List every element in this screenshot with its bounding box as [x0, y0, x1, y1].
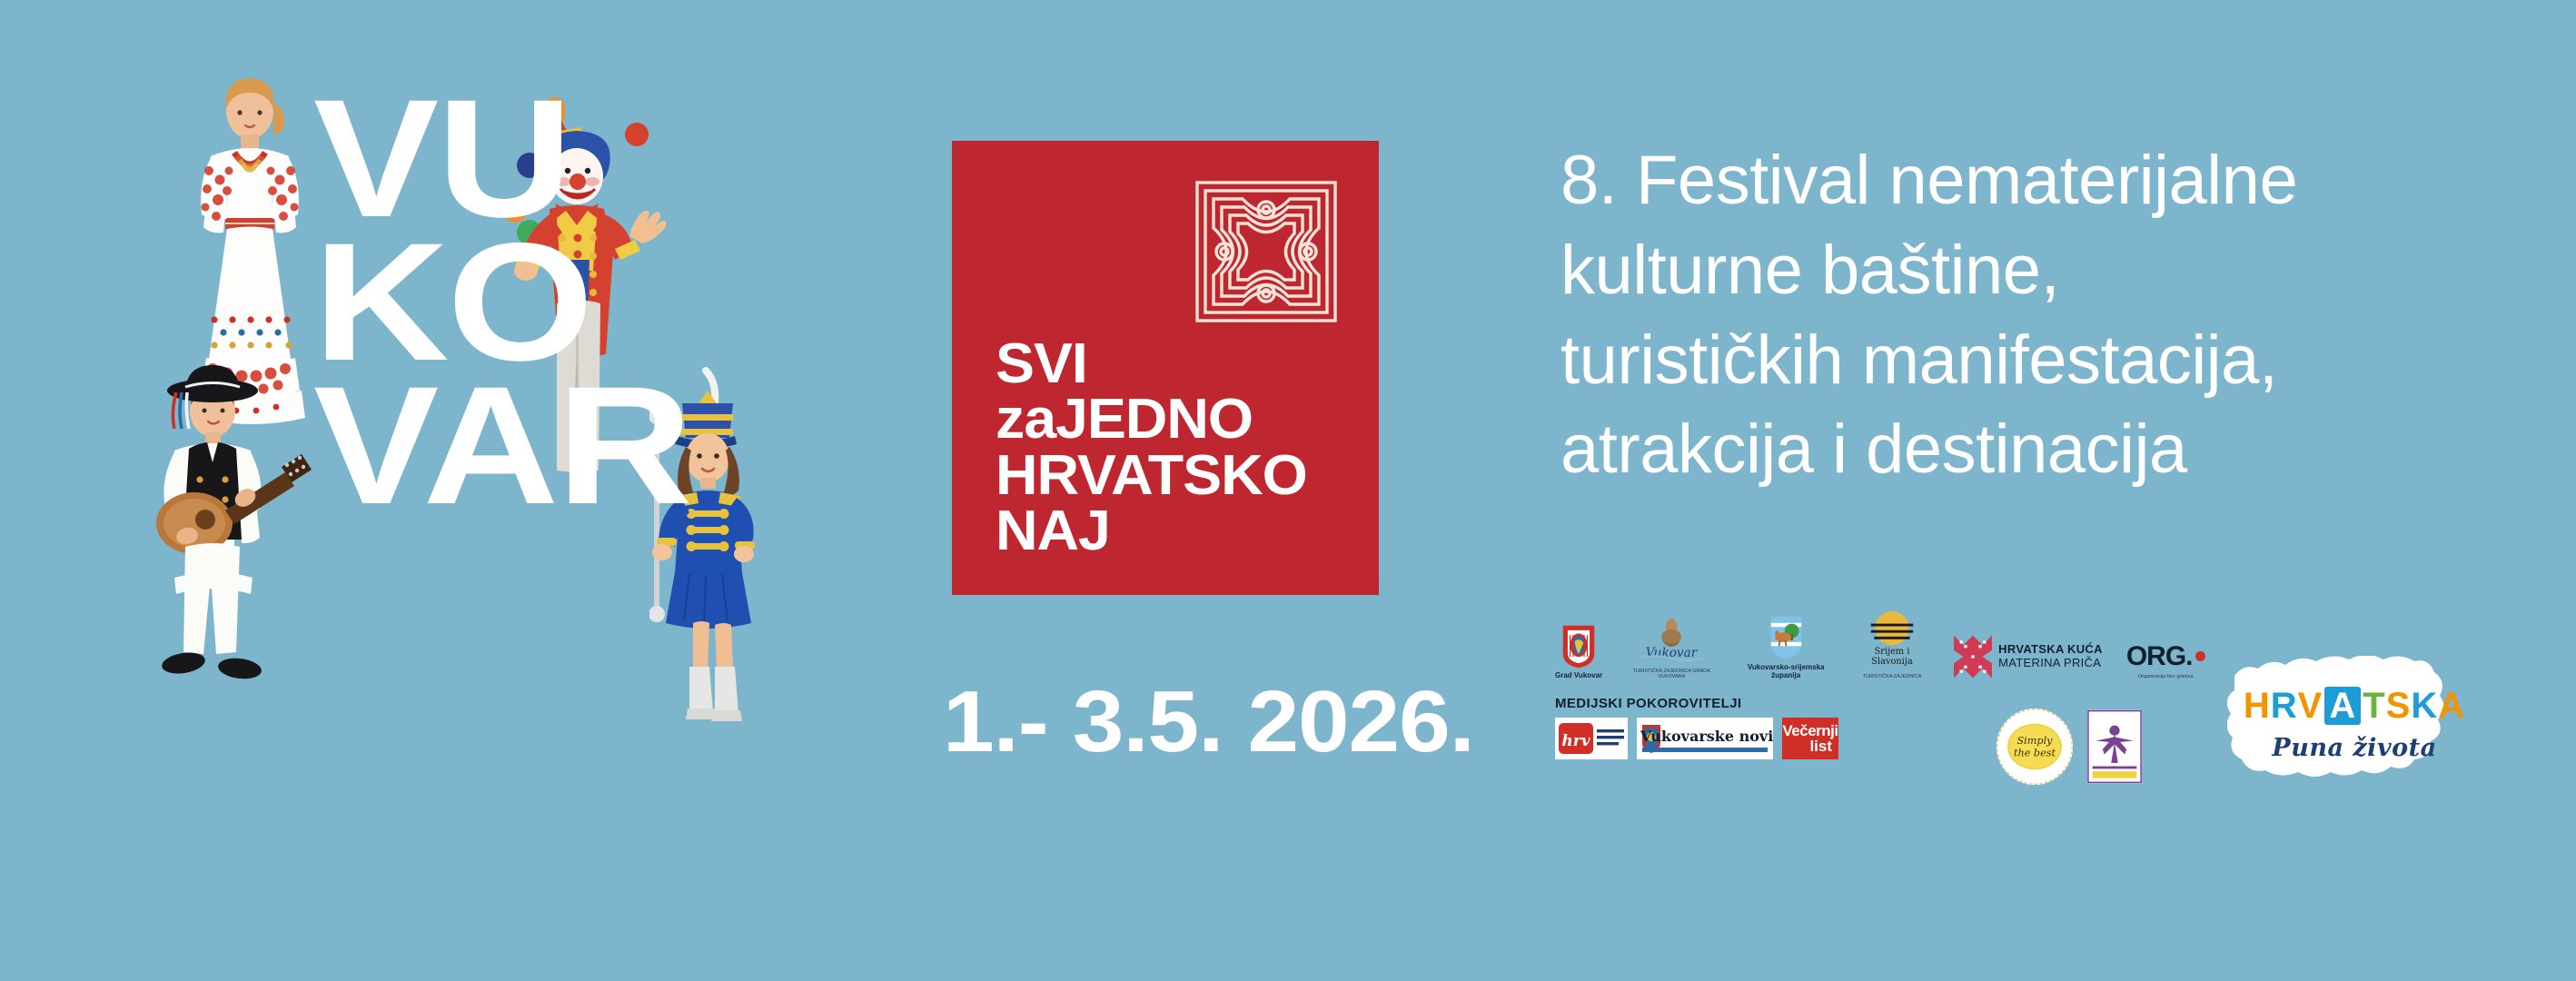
- slogan-line-4: NAJ: [996, 503, 1307, 559]
- tamburica-musician-illustration: [118, 354, 327, 718]
- svg-text:Srijem i: Srijem i: [1875, 647, 1910, 657]
- croatia-letter: S: [2386, 688, 2412, 724]
- vecernji-line-1: Večernji: [1782, 723, 1838, 738]
- sponsor-area: Grad Vukovar Vukovar TURISTIČKA ZAJEDNIC…: [1555, 572, 2536, 808]
- org-red-dot-icon: [2195, 651, 2205, 661]
- svg-text:hrv: hrv: [1561, 732, 1590, 750]
- logo-subtitle: TURISTIČKA ZAJEDNICA GRADA VUKOVARA: [1628, 669, 1715, 679]
- festival-headline: 8. Festival nematerijalne kulturne bašti…: [1560, 136, 2523, 495]
- logo-hrt-radio-vukovar: hrv: [1555, 718, 1628, 759]
- slogan-text: SVI zaJEDNO HRVATSKO NAJ: [996, 336, 1307, 560]
- headline-line-2: kulturne baštine,: [1560, 226, 2523, 316]
- vecernji-line-2: list: [1809, 738, 1832, 755]
- croatia-letter: T: [2363, 688, 2385, 724]
- croatia-letter: A: [2438, 688, 2465, 724]
- croatia-tagline: Puna života: [2272, 734, 2436, 762]
- festival-banner: VU KO VAR: [0, 0, 2576, 981]
- croatia-letter: H: [2244, 688, 2271, 724]
- media-sponsors-block: MEDIJSKI POKOROVITELJI hrv: [1555, 696, 1838, 759]
- logo-org: ORG. Organizacija bez granica: [2126, 641, 2205, 679]
- slogan-line-2: zaJEDNO: [996, 391, 1307, 447]
- svg-text:the best: the best: [2014, 747, 2056, 758]
- headline-line-4: atrakcija i destinacija: [1560, 405, 2523, 495]
- logo-subtitle: TURISTIČKA ZAJEDNICA: [1863, 674, 1921, 679]
- sponsor-row-organizers: Grad Vukovar Vukovar TURISTIČKA ZAJEDNIC…: [1555, 572, 2205, 679]
- svg-text:Vukovarske novine: Vukovarske novine: [1640, 728, 1773, 745]
- vukovar-line-3: VAR: [313, 378, 690, 516]
- logo-vukovarske-novine: Vukovarske novine: [1637, 718, 1773, 759]
- croatia-letter-a-badge: A: [2324, 687, 2361, 725]
- logo-simply-the-best: Simply the best: [1995, 707, 2075, 791]
- logo-caption: ORG.: [2126, 641, 2193, 672]
- logo-subtitle: Organizacija bez granica: [2138, 674, 2194, 679]
- logo-srijem-i-slavonija: Srijem i Slavonija TURISTIČKA ZAJEDNICA: [1855, 609, 1929, 679]
- slogan-line-1: SVI: [996, 336, 1307, 391]
- croatia-wordmark: H R V A T S K A: [2244, 687, 2465, 725]
- slogan-panel: SVI zaJEDNO HRVATSKO NAJ: [952, 141, 1379, 595]
- logo-turisticka-zajednica-vukovar: Vukovar TURISTIČKA ZAJEDNICA GRADA VUKOV…: [1626, 617, 1717, 679]
- slogan-line-3: HRVATSKO: [996, 448, 1307, 503]
- vukovar-logo-block: VU KO VAR: [118, 82, 845, 781]
- logo-hrvatska-kuca-materina-prica: HRVATSKA KUĆA MATERINA PRIČA: [1953, 634, 2103, 679]
- croatia-letter: V: [2298, 688, 2323, 724]
- logo-caption-line-1: HRVATSKA KUĆA: [1998, 643, 2103, 657]
- headline-line-1: 8. Festival nematerijalne: [1560, 136, 2523, 226]
- festival-date: 1.- 3.5. 2026.: [943, 672, 1474, 772]
- logo-caption: Grad Vukovar: [1555, 672, 1602, 679]
- media-sponsors-logos: hrv Vukovarske novine: [1555, 718, 1838, 759]
- croatian-interlace-knot-icon: [1188, 173, 1344, 330]
- award-logos: Simply the best: [1995, 707, 2142, 791]
- logo-hrvatska-puna-zivota: H R V A T S K A Puna života: [2227, 656, 2482, 792]
- logo-grad-vukovar: Grad Vukovar: [1555, 624, 1602, 679]
- logo-vukovarsko-srijemska-zupanija: Vukovarsko-srijemska županija: [1740, 615, 1831, 679]
- svg-text:Simply: Simply: [2016, 735, 2053, 747]
- logo-caption-line-2: MATERINA PRIČA: [1998, 657, 2103, 670]
- vukovar-line-1: VU: [313, 91, 570, 229]
- croatia-logo-inner: H R V A T S K A Puna života: [2227, 656, 2482, 792]
- croatia-letter: R: [2271, 688, 2298, 724]
- media-sponsors-label: MEDIJSKI POKOROVITELJI: [1555, 696, 1838, 711]
- logo-turisticki-cvijet: [2087, 709, 2142, 788]
- croatia-letter: K: [2411, 688, 2438, 724]
- svg-text:Slavonija: Slavonija: [1871, 657, 1913, 667]
- logo-vecernji-list: Večernji list: [1782, 718, 1838, 759]
- headline-line-3: turističkih manifestacija,: [1560, 316, 2523, 406]
- vukovar-line-2: KO: [313, 234, 591, 372]
- juggle-ball: [625, 123, 649, 146]
- logo-caption: Vukovarsko-srijemska županija: [1740, 664, 1831, 679]
